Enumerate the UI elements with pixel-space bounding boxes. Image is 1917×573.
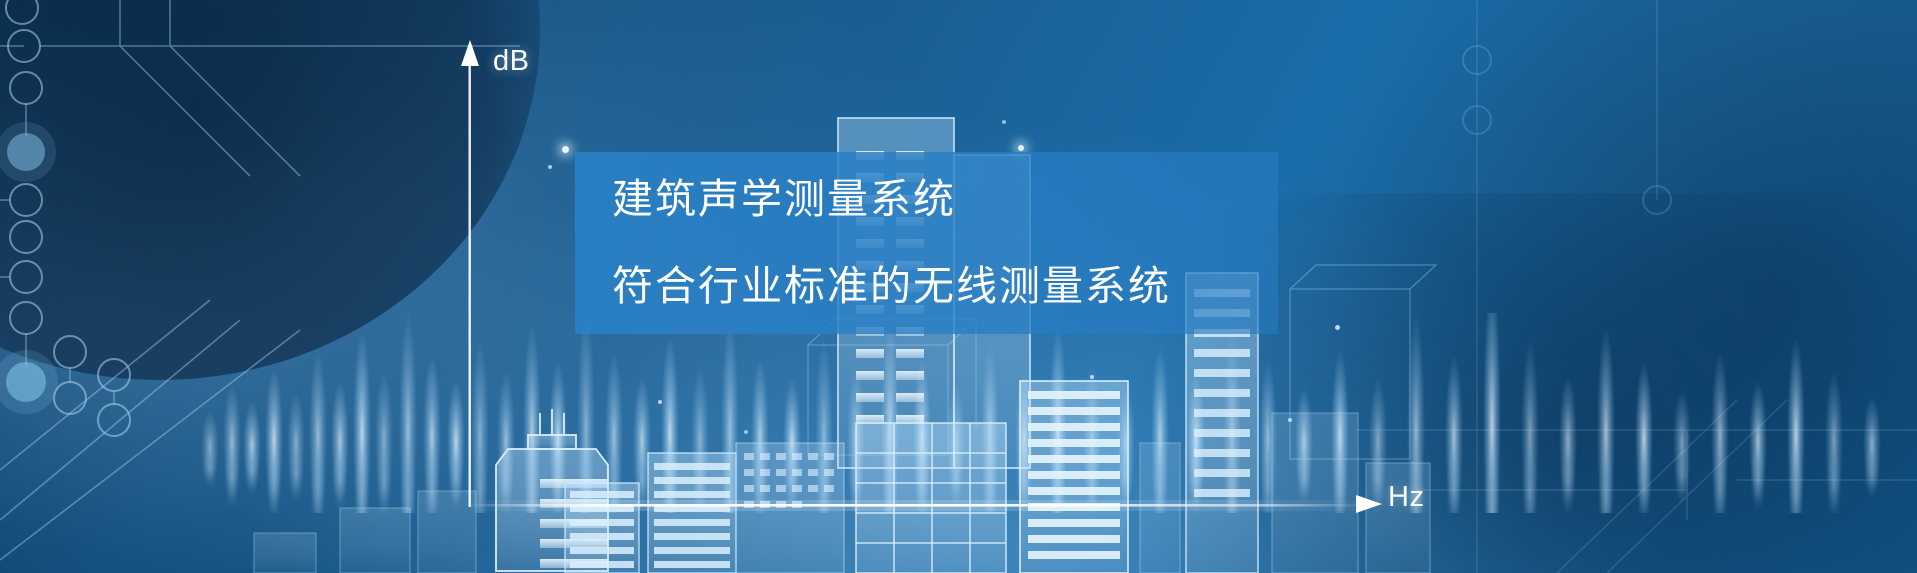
waveform-bar [1223, 328, 1241, 513]
waveform-bar-reflection [224, 445, 240, 509]
waveform-bar [353, 330, 371, 513]
glow-dot [548, 165, 552, 169]
waveform-bar-reflection [1750, 445, 1766, 513]
waveform-bar [1295, 387, 1313, 499]
waveform-bar [847, 368, 865, 512]
waveform-bar [751, 356, 769, 513]
waveform-bar-reflection [1598, 439, 1614, 513]
waveform-bar-reflection [1188, 444, 1204, 513]
waveform-bar [1117, 385, 1135, 501]
waveform-bar [981, 342, 999, 513]
waveform-bar [1711, 352, 1729, 513]
x-axis-line [470, 504, 1370, 507]
waveform-bar-reflection [244, 447, 260, 495]
waveform-bar-reflection [550, 443, 566, 513]
waveform-bar-reflection [202, 448, 218, 488]
waveform-bar [399, 313, 417, 513]
glow-dot [658, 400, 662, 404]
waveform-bar [497, 370, 515, 510]
waveform-bar-reflection [848, 444, 864, 513]
waveform-bar-reflection [982, 441, 998, 513]
waveform-bar [815, 340, 833, 513]
waveform-bar [721, 316, 739, 513]
waveform-bar [661, 335, 679, 513]
waveform-bar-reflection [266, 444, 282, 513]
waveform-bar-reflection [498, 444, 514, 513]
y-axis-line [469, 60, 471, 507]
acoustic-measurement-banner: dB Hz 建筑声学测量系统 符合行业标准的无线测量系统 [0, 0, 1917, 573]
waveform-bar [1521, 340, 1539, 513]
waveform-bar-reflection [448, 445, 464, 513]
y-axis-label: dB [493, 45, 529, 78]
building-dot-grid [736, 443, 844, 573]
waveform-bar-reflection [1016, 444, 1032, 513]
waveform-bar [1083, 363, 1101, 513]
waveform-bar-reflection [424, 442, 440, 513]
waveform-bar [549, 361, 567, 513]
waveform-bar-reflection [1050, 439, 1066, 513]
waveform-bar [947, 382, 965, 502]
glow-dot [744, 430, 748, 434]
waveform-bar-reflection [606, 442, 622, 513]
waveform-bar-reflection [948, 445, 964, 511]
waveform-bar-reflection [1084, 443, 1100, 513]
waveform-bar [605, 352, 623, 513]
waveform-bar-reflection [1636, 443, 1652, 513]
waveform-bar-reflection [1522, 441, 1538, 513]
arrow-up-icon [461, 40, 479, 66]
waveform-bar-reflection [1152, 441, 1168, 513]
waveform-bar [881, 321, 899, 513]
circuit-glow-nodes [0, 122, 58, 414]
waveform-bar-reflection [914, 443, 930, 513]
waveform-bar-reflection [1260, 443, 1276, 513]
waveform-bar-reflection [752, 442, 768, 513]
waveform-bar-reflection [1864, 447, 1880, 500]
waveform-bar [913, 359, 931, 513]
waveform-bar [309, 349, 327, 513]
audio-waveform [0, 313, 1917, 513]
glow-dot [1335, 325, 1340, 330]
waveform-bar [691, 366, 709, 513]
waveform-bar [223, 385, 241, 501]
waveform-bar-reflection [472, 441, 488, 513]
waveform-bar [1187, 373, 1205, 509]
waveform-bar-reflection [816, 441, 832, 513]
glow-dot [562, 146, 569, 153]
waveform-bar-reflection [1370, 445, 1386, 513]
waveform-bar [447, 380, 465, 504]
waveform-bar [1483, 313, 1501, 513]
building-right-striped [1020, 381, 1128, 573]
waveform-bar-reflection [1712, 442, 1728, 513]
glow-dot [1002, 120, 1006, 124]
waveform-bar [1049, 326, 1067, 513]
waveform-bar [265, 368, 283, 512]
waveform-bar [1369, 377, 1387, 505]
waveform-bar [1151, 344, 1169, 513]
waveform-bar-reflection [1296, 446, 1312, 508]
waveform-bar-reflection [634, 444, 650, 513]
waveform-bar [1015, 370, 1033, 510]
waveform-bar-reflection [1560, 444, 1576, 513]
waveform-bar-reflection [354, 439, 370, 513]
waveform-bar-reflection [1788, 440, 1804, 513]
waveform-bar [1597, 326, 1615, 513]
arrow-right-icon [1356, 495, 1382, 513]
waveform-bar [201, 411, 219, 483]
waveform-bar-reflection [376, 444, 392, 513]
glow-dot [1090, 375, 1094, 379]
waveform-bar-reflection [722, 438, 738, 513]
waveform-bar [375, 370, 393, 510]
waveform-bar-reflection [400, 437, 416, 513]
waveform-bar-reflection [882, 438, 898, 513]
glow-dot [1288, 418, 1292, 422]
waveform-bar-reflection [662, 440, 678, 513]
circuit-decoration-left [0, 0, 520, 573]
waveform-bar-reflection [288, 446, 304, 503]
glow-dot [1018, 145, 1024, 151]
waveform-bar-reflection [1484, 434, 1500, 514]
waveform-bar-reflection [332, 445, 348, 513]
waveform-bar [577, 313, 595, 513]
waveform-bar-reflection [692, 443, 708, 513]
waveform-bar [1825, 370, 1843, 510]
waveform-bar-reflection [1826, 444, 1842, 513]
waveform-bar-reflection [524, 439, 540, 513]
waveform-bar [523, 323, 541, 513]
waveform-bar [1749, 380, 1767, 504]
waveform-bar-reflection [578, 437, 594, 513]
waveform-bar-reflection [310, 442, 326, 513]
waveform-bar-reflection [1332, 442, 1348, 513]
waveform-bar-reflection [784, 445, 800, 513]
waveform-bar [471, 340, 489, 513]
waveform-bar-reflection [1674, 446, 1690, 505]
circuit-nodes [6, 0, 130, 436]
waveform-bar [243, 401, 261, 489]
waveform-bar [423, 354, 441, 513]
headline-overlay-box: 建筑声学测量系统 符合行业标准的无线测量系统 [575, 152, 1278, 334]
waveform-bar [1331, 349, 1349, 513]
circuit-decoration-right [1357, 0, 1917, 573]
building-striped-left2 [648, 453, 736, 573]
waveform-bar [1445, 354, 1463, 513]
building-antenna-tower [496, 409, 608, 571]
building-striped-left [565, 483, 639, 573]
building-antenna-tower-windows [540, 479, 608, 568]
waveform-bar [783, 377, 801, 505]
x-axis-label: Hz [1388, 481, 1424, 514]
waveform-bar [1259, 359, 1277, 513]
banner-subtitle: 符合行业标准的无线测量系统 [612, 265, 1278, 308]
waveform-bar-reflection [1224, 439, 1240, 513]
waveform-bar [331, 380, 349, 504]
building-background-blocks [254, 413, 1430, 573]
banner-title: 建筑声学测量系统 [612, 178, 1278, 221]
waveform-bar [1635, 361, 1653, 513]
waveform-bar [287, 392, 305, 496]
waveform-bar [1673, 389, 1691, 497]
waveform-bar-reflection [1118, 445, 1134, 509]
waveform-bar [1559, 375, 1577, 507]
building-grid-center [856, 423, 1006, 573]
vignette-top-left [0, 0, 540, 380]
waveform-bar [1863, 396, 1881, 492]
waveform-bar [633, 375, 651, 507]
waveform-bar [1787, 337, 1805, 513]
waveform-bars [201, 313, 1881, 513]
waveform-bar-reflection [1446, 442, 1462, 513]
